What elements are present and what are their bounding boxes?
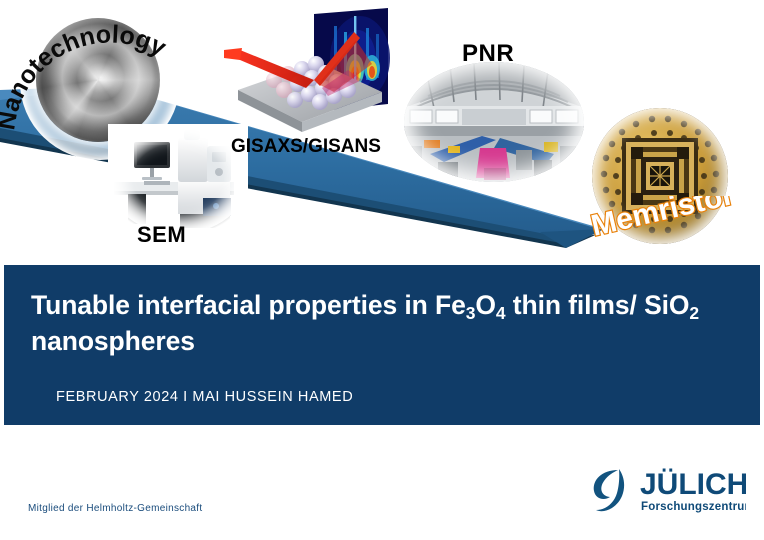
- title-part-3: thin films/ SiO: [506, 290, 690, 320]
- juelich-logo: JÜLICH Forschungszentrum: [586, 466, 746, 518]
- helmholtz-membership-note: Mitglied der Helmholtz-Gemeinschaft: [28, 503, 202, 514]
- label-nanotechnology-text: Nanotechnology: [0, 20, 171, 132]
- title-part-2: O: [475, 290, 496, 320]
- label-sem: SEM: [137, 222, 186, 248]
- title-subscript-2: 2: [689, 303, 699, 323]
- title-band: Tunable interfacial properties in Fe3O4 …: [4, 265, 760, 425]
- logo-subline: Forschungszentrum: [641, 501, 746, 513]
- label-pnr: PNR: [462, 40, 514, 68]
- title-subscript-4: 4: [496, 303, 506, 323]
- gisaxs-graphic: [222, 6, 402, 146]
- label-memristor-text: Memristor: [588, 196, 737, 243]
- label-memristor: Memristor: [582, 196, 752, 248]
- logo-wordmark: JÜLICH: [640, 468, 746, 501]
- title-subscript-3: 3: [466, 303, 476, 323]
- page-title: Tunable interfacial properties in Fe3O4 …: [31, 289, 741, 358]
- juelich-swoosh-icon: [594, 469, 624, 511]
- title-line-2: nanospheres: [31, 326, 195, 356]
- svg-text:Nanotechnology: Nanotechnology: [0, 20, 171, 132]
- pnr-photo: [404, 62, 584, 182]
- page-subtitle: FEBRUARY 2024 I MAI HUSSEIN HAMED: [56, 389, 353, 405]
- hero-graphic-area: Nanotechnology: [0, 0, 764, 265]
- label-gisaxs: GISAXS/GISANS: [231, 136, 381, 158]
- slide-root: Nanotechnology: [0, 0, 764, 540]
- title-part-1: Tunable interfacial properties in Fe: [31, 290, 466, 320]
